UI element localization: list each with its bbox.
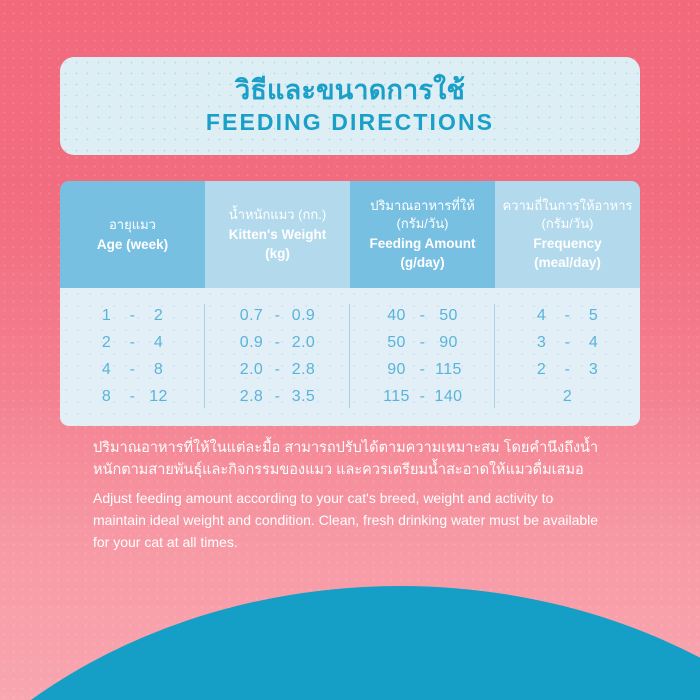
range-dash: - bbox=[557, 307, 579, 325]
footer-note-thai: ปริมาณอาหารที่ให้ในแต่ละมื้อ สามารถปรับไ… bbox=[93, 437, 603, 481]
frequency-single: 2 bbox=[563, 388, 572, 406]
amount-to: 50 bbox=[434, 307, 464, 325]
weight-to: 2.0 bbox=[289, 334, 319, 352]
cell-weight: 2.0 - 2.8 bbox=[205, 356, 350, 383]
range-dash: - bbox=[267, 334, 289, 352]
weight-from: 2.8 bbox=[237, 388, 267, 406]
frequency-to: 3 bbox=[579, 361, 609, 379]
bottom-wave-shape bbox=[0, 586, 700, 700]
table-row: 1 - 2 0.7 - 0.9 40 - 50 4 - 5 bbox=[60, 302, 640, 329]
table-header-weight-thai: น้ำหนักแมว (กก.) bbox=[229, 206, 326, 224]
amount-from: 50 bbox=[382, 334, 412, 352]
table-header-frequency-thai: ความถี่ในการให้อาหาร bbox=[503, 197, 633, 215]
age-to: 12 bbox=[144, 388, 174, 406]
frequency-from: 3 bbox=[527, 334, 557, 352]
table-header-age-english: Age (week) bbox=[97, 236, 168, 254]
weight-to: 0.9 bbox=[289, 307, 319, 325]
table-row: 8 - 12 2.8 - 3.5 115 - 140 2 bbox=[60, 383, 640, 410]
feeding-directions-table: อายุแมว Age (week) น้ำหนักแมว (กก.) Kitt… bbox=[60, 181, 640, 426]
cell-amount: 50 - 90 bbox=[350, 329, 495, 356]
cell-amount: 40 - 50 bbox=[350, 302, 495, 329]
page-title-english: FEEDING DIRECTIONS bbox=[206, 109, 494, 137]
range-dash: - bbox=[557, 334, 579, 352]
table-header-frequency-unit: (meal/day) bbox=[534, 254, 601, 272]
table-header-amount-thai: ปริมาณอาหารที่ให้ bbox=[370, 197, 475, 215]
footer-note: ปริมาณอาหารที่ให้ในแต่ละมื้อ สามารถปรับไ… bbox=[93, 437, 603, 553]
cell-frequency: 2 - 3 bbox=[495, 356, 640, 383]
table-header-amount-english: Feeding Amount bbox=[370, 235, 476, 253]
weight-to: 2.8 bbox=[289, 361, 319, 379]
amount-to: 90 bbox=[434, 334, 464, 352]
amount-from: 90 bbox=[382, 361, 412, 379]
frequency-to: 5 bbox=[579, 307, 609, 325]
table-header-frequency-english: Frequency bbox=[533, 235, 601, 253]
age-from: 8 bbox=[92, 388, 122, 406]
weight-from: 0.7 bbox=[237, 307, 267, 325]
cell-age: 2 - 4 bbox=[60, 329, 205, 356]
table-header-weight-unit: (kg) bbox=[265, 245, 290, 263]
range-dash: - bbox=[412, 388, 434, 406]
range-dash: - bbox=[412, 334, 434, 352]
range-dash: - bbox=[122, 307, 144, 325]
header-card: วิธีและขนาดการใช้ FEEDING DIRECTIONS bbox=[60, 57, 640, 155]
table-header-age-thai: อายุแมว bbox=[109, 216, 156, 234]
table-header-weight: น้ำหนักแมว (กก.) Kitten's Weight (kg) bbox=[205, 181, 350, 288]
range-dash: - bbox=[267, 307, 289, 325]
cell-amount: 115 - 140 bbox=[350, 383, 495, 410]
age-from: 2 bbox=[92, 334, 122, 352]
age-to: 2 bbox=[144, 307, 174, 325]
range-dash: - bbox=[412, 361, 434, 379]
range-dash: - bbox=[557, 361, 579, 379]
page-title-thai: วิธีและขนาดการใช้ bbox=[235, 75, 465, 106]
age-to: 8 bbox=[144, 361, 174, 379]
cell-age: 8 - 12 bbox=[60, 383, 205, 410]
cell-frequency: 3 - 4 bbox=[495, 329, 640, 356]
range-dash: - bbox=[412, 307, 434, 325]
amount-to: 140 bbox=[434, 388, 464, 406]
table-body: 1 - 2 0.7 - 0.9 40 - 50 4 - 5 bbox=[60, 288, 640, 426]
age-from: 1 bbox=[92, 307, 122, 325]
frequency-to: 4 bbox=[579, 334, 609, 352]
range-dash: - bbox=[267, 388, 289, 406]
frequency-from: 4 bbox=[527, 307, 557, 325]
cell-frequency: 4 - 5 bbox=[495, 302, 640, 329]
amount-from: 40 bbox=[382, 307, 412, 325]
cell-age: 1 - 2 bbox=[60, 302, 205, 329]
range-dash: - bbox=[267, 361, 289, 379]
cell-weight: 0.7 - 0.9 bbox=[205, 302, 350, 329]
table-row: 4 - 8 2.0 - 2.8 90 - 115 2 - 3 bbox=[60, 356, 640, 383]
range-dash: - bbox=[122, 388, 144, 406]
table-header-amount-unit: (g/day) bbox=[400, 254, 444, 272]
age-from: 4 bbox=[92, 361, 122, 379]
weight-to: 3.5 bbox=[289, 388, 319, 406]
range-dash: - bbox=[122, 334, 144, 352]
table-header-amount-unit-thai: (กรัม/วัน) bbox=[397, 215, 449, 233]
table-header-frequency-unit-thai: (กรัม/วัน) bbox=[542, 215, 594, 233]
table-header-age: อายุแมว Age (week) bbox=[60, 181, 205, 288]
table-header-frequency: ความถี่ในการให้อาหาร (กรัม/วัน) Frequenc… bbox=[495, 181, 640, 288]
weight-from: 2.0 bbox=[237, 361, 267, 379]
table-row: 2 - 4 0.9 - 2.0 50 - 90 3 - 4 bbox=[60, 329, 640, 356]
age-to: 4 bbox=[144, 334, 174, 352]
table-header-weight-english: Kitten's Weight bbox=[229, 226, 326, 244]
cell-weight: 0.9 - 2.0 bbox=[205, 329, 350, 356]
cell-frequency: 2 bbox=[495, 383, 640, 410]
table-header-amount: ปริมาณอาหารที่ให้ (กรัม/วัน) Feeding Amo… bbox=[350, 181, 495, 288]
footer-note-english: Adjust feeding amount according to your … bbox=[93, 487, 603, 553]
weight-from: 0.9 bbox=[237, 334, 267, 352]
cell-amount: 90 - 115 bbox=[350, 356, 495, 383]
poster-canvas: วิธีและขนาดการใช้ FEEDING DIRECTIONS อาย… bbox=[0, 0, 700, 700]
frequency-from: 2 bbox=[527, 361, 557, 379]
table-header-row: อายุแมว Age (week) น้ำหนักแมว (กก.) Kitt… bbox=[60, 181, 640, 288]
range-dash: - bbox=[122, 361, 144, 379]
cell-age: 4 - 8 bbox=[60, 356, 205, 383]
cell-weight: 2.8 - 3.5 bbox=[205, 383, 350, 410]
amount-from: 115 bbox=[382, 388, 412, 406]
amount-to: 115 bbox=[434, 361, 464, 379]
